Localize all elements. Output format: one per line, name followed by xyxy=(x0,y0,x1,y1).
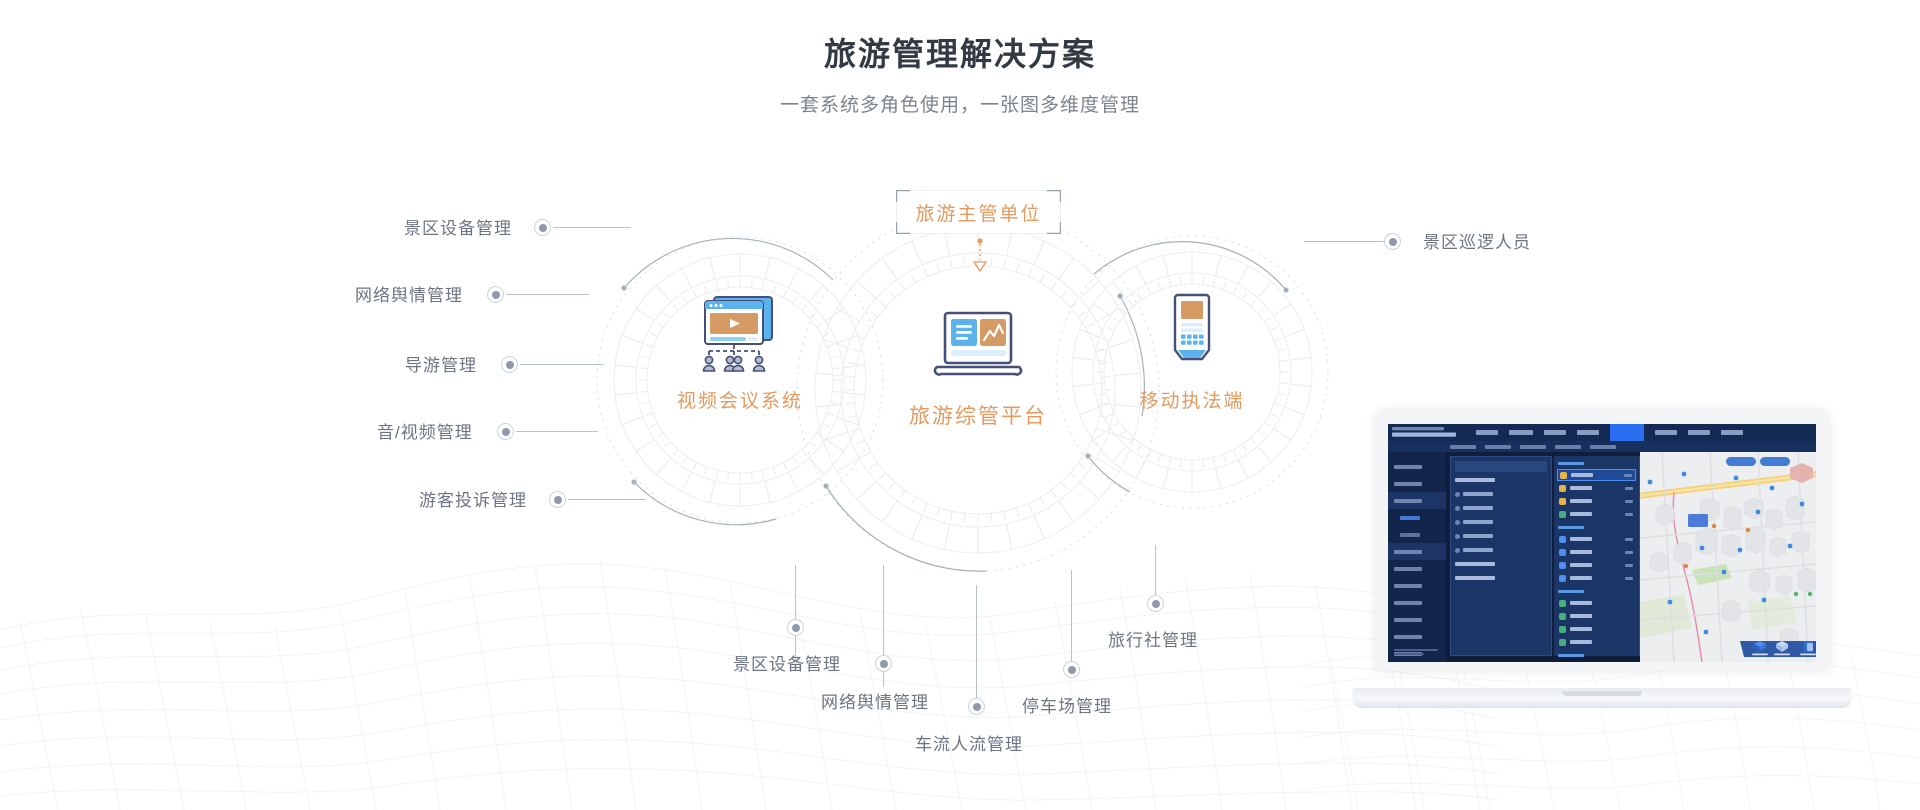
mockup-sidebar-footer xyxy=(1394,649,1438,656)
page-root: 旅游管理解决方案 一套系统多角色使用，一张图多维度管理 xyxy=(0,0,1920,810)
left-label-4[interactable]: 音/视频管理 xyxy=(377,418,473,443)
video-window-icon xyxy=(692,292,788,374)
mockup-tree-row xyxy=(1455,502,1547,514)
mockup-layer-row xyxy=(1557,661,1636,662)
mockup-layer-row xyxy=(1557,597,1636,609)
node-tourism-platform[interactable]: 旅游综管平台 xyxy=(888,310,1068,430)
mockup-layer-section xyxy=(1558,651,1635,660)
left-line-5 xyxy=(568,499,646,500)
mockup-sidebar-item xyxy=(1388,560,1446,577)
left-dot-2[interactable] xyxy=(487,286,504,303)
node-label-video-conference: 视频会议系统 xyxy=(650,386,830,413)
mockup-layer-row xyxy=(1557,508,1636,520)
laptop-notch xyxy=(1562,691,1642,696)
mobile-device-icon xyxy=(1160,292,1224,374)
mockup-tab-row[interactable] xyxy=(1388,441,1816,452)
bottom-label-3[interactable]: 车流人流管理 xyxy=(915,730,1023,755)
bottom-line-1 xyxy=(795,565,796,660)
left-label-2[interactable]: 网络舆情管理 xyxy=(355,281,463,306)
bottom-dot-1[interactable] xyxy=(787,619,804,636)
mockup-layer-row xyxy=(1557,559,1636,571)
right-label-2[interactable]: 旅行社管理 xyxy=(1108,626,1198,651)
mockup-tree-row xyxy=(1455,474,1547,486)
mockup-tree-row xyxy=(1455,530,1547,542)
mockup-layer-section xyxy=(1558,587,1635,596)
mockup-topbar xyxy=(1388,424,1816,441)
mockup-sidebar-item xyxy=(1388,611,1446,628)
mockup-sidebar-subitem xyxy=(1388,509,1446,526)
mockup-layer-section xyxy=(1558,523,1635,532)
mockup-layer-row xyxy=(1557,482,1636,494)
right-line-2 xyxy=(1155,545,1156,595)
mockup-panel-header xyxy=(1455,461,1547,472)
right-dot-2[interactable] xyxy=(1147,595,1164,612)
left-dot-3[interactable] xyxy=(501,356,518,373)
left-dot-4[interactable] xyxy=(497,423,514,440)
laptop-lid xyxy=(1374,408,1830,670)
node-label-mobile-enforcement: 移动执法端 xyxy=(1102,386,1282,413)
badge-tourism-authority[interactable]: 旅游主管单位 xyxy=(896,190,1061,234)
badge-label: 旅游主管单位 xyxy=(915,199,1041,226)
node-label-tourism-platform: 旅游综管平台 xyxy=(888,400,1068,430)
mockup-main-menu[interactable] xyxy=(1476,424,1743,441)
mockup-sidebar-subitem xyxy=(1388,526,1446,543)
right-dot-1[interactable] xyxy=(1384,233,1401,250)
left-line-4 xyxy=(516,431,598,432)
left-line-1 xyxy=(553,227,631,228)
mockup-tree-row xyxy=(1455,488,1547,500)
mockup-layer-row xyxy=(1557,636,1636,648)
badge-down-arrow xyxy=(966,238,994,274)
mockup-layer-panel[interactable] xyxy=(1554,456,1640,656)
bottom-label-4[interactable]: 停车场管理 xyxy=(1022,692,1112,717)
mockup-sidebar[interactable] xyxy=(1388,452,1446,662)
bottom-label-1[interactable]: 景区设备管理 xyxy=(733,650,841,675)
mockup-layer-row xyxy=(1557,623,1636,635)
mockup-layer-row xyxy=(1557,469,1636,481)
mockup-layer-row xyxy=(1557,495,1636,507)
bottom-label-2[interactable]: 网络舆情管理 xyxy=(821,688,929,713)
mockup-sidebar-item xyxy=(1388,594,1446,611)
left-line-3 xyxy=(520,364,604,365)
bottom-dot-2[interactable] xyxy=(875,655,892,672)
mockup-menu-active xyxy=(1610,424,1644,441)
mockup-layer-row xyxy=(1557,572,1636,584)
mockup-map-dock[interactable] xyxy=(1736,637,1816,659)
mockup-tree-row xyxy=(1455,572,1547,584)
bottom-dot-3[interactable] xyxy=(968,698,985,715)
mockup-map-canvas xyxy=(1640,452,1816,662)
mockup-layer-row xyxy=(1557,610,1636,622)
node-mobile-enforcement[interactable]: 移动执法端 xyxy=(1102,292,1282,413)
left-dot-1[interactable] xyxy=(534,219,551,236)
mockup-sidebar-item xyxy=(1388,628,1446,645)
mockup-tree-row xyxy=(1455,544,1547,556)
mockup-sidebar-item xyxy=(1388,475,1446,492)
mockup-logo xyxy=(1392,426,1470,439)
mockup-layer-section xyxy=(1558,459,1635,468)
left-label-1[interactable]: 景区设备管理 xyxy=(404,214,512,239)
bottom-line-3 xyxy=(976,585,977,715)
mockup-layer-row xyxy=(1557,546,1636,558)
left-dot-5[interactable] xyxy=(549,491,566,508)
mockup-layer-row xyxy=(1557,533,1636,545)
mockup-map-view[interactable] xyxy=(1640,452,1816,662)
right-line-1 xyxy=(1304,241,1384,242)
mockup-tree-row xyxy=(1455,558,1547,570)
mockup-sidebar-item xyxy=(1388,543,1446,560)
mockup-tree-row xyxy=(1455,516,1547,528)
left-label-5[interactable]: 游客投诉管理 xyxy=(419,486,527,511)
mockup-area-tree-panel[interactable] xyxy=(1450,456,1552,656)
mockup-sidebar-item xyxy=(1388,458,1446,475)
right-label-1[interactable]: 景区巡逻人员 xyxy=(1423,228,1531,253)
mockup-sidebar-item xyxy=(1388,492,1446,509)
left-label-3[interactable]: 导游管理 xyxy=(405,351,477,376)
bottom-line-4 xyxy=(1071,570,1072,670)
node-video-conference[interactable]: 视频会议系统 xyxy=(650,292,830,413)
mockup-sidebar-item xyxy=(1388,577,1446,594)
product-screenshot-laptop[interactable] xyxy=(1352,408,1852,708)
left-line-2 xyxy=(506,294,589,295)
laptop-dashboard-icon xyxy=(924,310,1032,388)
console-screenshot[interactable] xyxy=(1388,424,1816,662)
bottom-dot-4[interactable] xyxy=(1063,661,1080,678)
